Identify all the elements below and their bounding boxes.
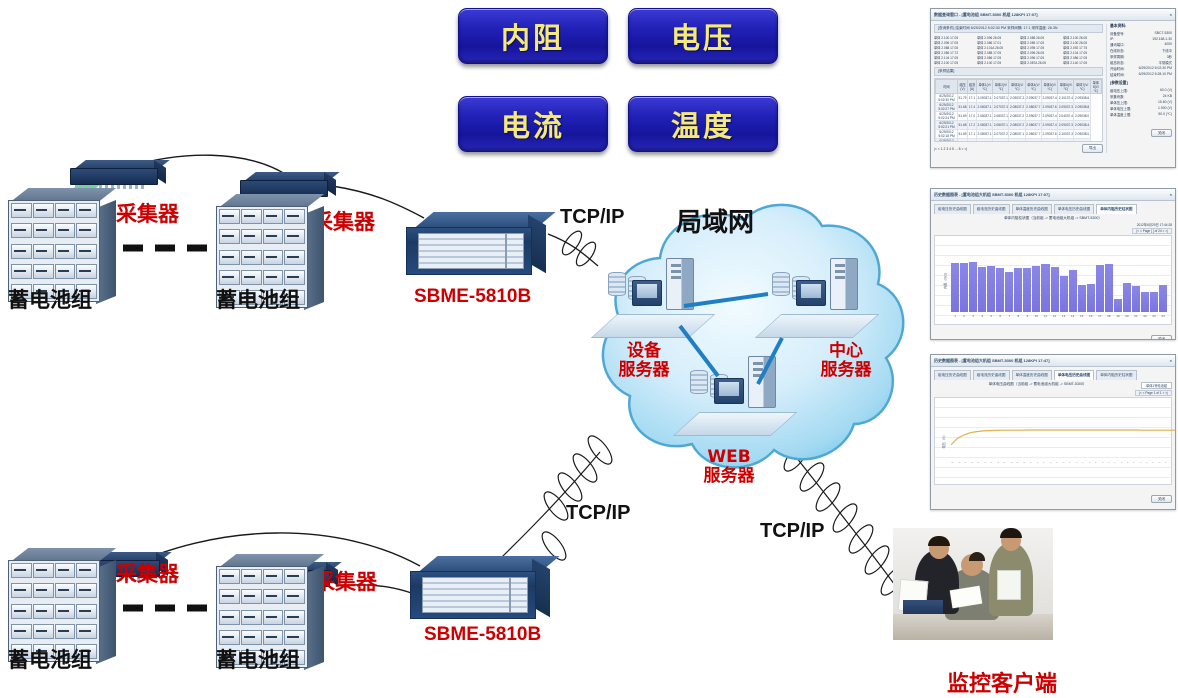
info-value: 6/29/2012 5:28:10 PM [1129,72,1172,77]
line-chart-window[interactable]: 历史数据图表 - [蓄电池组大机组 SBMT-5300 机组 128KPI 17… [930,354,1176,510]
bar-xtick: 16 [1087,314,1095,322]
photo-document [997,570,1021,600]
table-cell: 2.08037.7 [1025,121,1041,130]
table-cell: 2.09037.3 [1041,139,1057,143]
table-cell: 2.09037.4 [1041,121,1057,130]
table-header-cell: 单体1(V/℃) [976,80,992,94]
bar-chart-window[interactable]: 历史数据图表 - [蓄电池组大机组 SBMT-5300 机组 128KPI 17… [930,188,1176,340]
table-cell: 2.10037.3 [1058,130,1074,139]
info-row: 在线状态:下线中 [1110,48,1172,53]
alarm-row: 组电压上限:60.0 (V) [1110,88,1172,93]
table-row[interactable]: 6/29/2012 5:02:21 PM51.6817.22.08037.12.… [936,121,1102,130]
bar [1051,267,1059,312]
table-header-cell: 组压(V) [958,80,968,94]
chart-tab[interactable]: 单体电压历史曲线图 [1054,370,1094,380]
quick-value: 单体 2.100 17.05 [934,60,974,65]
bar [1141,292,1149,312]
line-chart-title: 单体电压曲线图（当前组 -> 蓄电池组大机组 -> SBMT-5300） [934,382,1141,387]
bar [1087,284,1095,312]
alarm-row: 单体压上限:15.60 (V) [1110,100,1172,105]
chart-tab[interactable]: 单体温度历史曲线图 [1012,204,1052,214]
table-cell: 2.09037.3 [1058,139,1074,143]
alarm-key: 单体电压上限: [1110,106,1131,111]
bar-xtick: 18 [1105,314,1113,322]
table-cell: 6/29/2012 5:02:24 PM [936,112,958,121]
bar [1041,264,1049,312]
line-xaxis: 09:0009:0509:1009:1509:2009:2509:3009:35… [951,462,1169,484]
info-key: 结束时间: [1110,72,1125,77]
table-cell: 17.0 [968,112,977,121]
table-cell: 2.08037.1 [993,121,1009,130]
bar-xtick: 23 [1150,314,1158,322]
bar-chart-title: 单体内阻柱状图（当前组 -> 蓄电池组大机组 -> SBMT-5300） [934,216,1172,221]
table-body: 6/29/2012 5:02:30 PM51.7917.12.09037.12.… [936,94,1102,143]
chart-tab[interactable]: 组电压历史曲线图 [934,370,971,380]
bar-xtick: 2 [960,314,968,322]
table-cell: 2.08037.2 [1009,112,1025,121]
bar [996,268,1004,312]
table-header-cell: 时间 [936,80,958,94]
export-button[interactable]: 导出 [1082,144,1103,153]
info-key: 通讯端口: [1110,42,1125,47]
collector-label-1: 采集器 [116,198,179,228]
alarm-key: 采集块数: [1110,94,1125,99]
table-cell: 17.1 [968,94,977,103]
info-key: 组态状态: [1110,60,1125,65]
bar-ylabel: 内阻（mΩ） [942,271,947,289]
bar [1159,285,1167,312]
bar [951,263,959,312]
chart-tabs: 组电压历史曲线图组电流历史曲线图单体温度历史曲线图单体电压历史曲线图单体内阻历史… [934,204,1172,214]
table-cell: 6/29/2012 5:02:27 PM [936,103,958,112]
line-pager[interactable]: |< < Page 1 of 1 > >| [1135,390,1172,396]
info-value: 6/29/2012 5:02:30 PM [1129,66,1172,71]
data-query-window[interactable]: 数据查询窗口 - [蓄电池组 SBMT-5300 机组 128KPI 17:07… [930,8,1176,168]
battery-label-4: 蓄电池组 [216,644,300,674]
alarm-row: 单体电压上限:1.900 (V) [1110,106,1172,111]
table-cell: 2.09037.7 [1025,94,1041,103]
line-ylabel: 电压（V） [941,434,946,449]
quick-value: 单体 2.087A 26.05 [1020,60,1060,65]
info-key: 采样周期: [1110,54,1125,59]
bar [1005,272,1013,312]
bar-xtick: 20 [1123,314,1131,322]
bar [1114,299,1122,312]
table-cell: 2.09037.6 [1041,103,1057,112]
info-value: 4000 [1129,42,1172,47]
table-cell: 6/29/2012 5:02:21 PM [936,121,958,130]
table-row[interactable]: 6/29/2012 5:02:27 PM51.6817.42.08037.12.… [936,103,1102,112]
table-cell: 2.09037.7 [1025,112,1041,121]
table-cell: 2.09037.3 [1058,103,1074,112]
table-cell: 2.07037.1 [993,94,1009,103]
chart-tabs: 组电压历史曲线图组电流历史曲线图单体温度历史曲线图单体电压历史曲线图单体内阻历史… [934,370,1172,380]
table-header-cell: 单体4(V/℃) [1025,80,1041,94]
close-icon[interactable]: × [1170,12,1172,17]
close-button[interactable]: 关闭 [1151,129,1172,137]
chart-tab[interactable]: 组电流历史曲线图 [973,370,1010,380]
bar-xtick: 4 [978,314,986,322]
quick-value: 单体 2.140 17.05 [1063,60,1103,65]
photo-hair [969,552,985,561]
table-cell: 51.69 [958,112,968,121]
window-title: 数据查询窗口 - [蓄电池组 SBMT-5300 机组 128KPI 17:07… [934,12,1038,18]
bar-xtick: 6 [996,314,1004,322]
alarm-key: 组电压上限: [1110,88,1128,93]
filter-bar: [查询条件] 结束时间 6/29/2012 5:02:30 PM 采样间隔: 1… [934,24,1103,33]
table-cell: 2.08037.1 [976,121,992,130]
bar [1096,265,1104,312]
table-cell: 2.08037.1 [976,130,992,139]
table-row[interactable]: 6/29/2012 5:02:15 PM51.7217.22.08037.12.… [936,139,1102,143]
chart-tab[interactable]: 单体内阻历史柱状图 [1096,370,1136,380]
table-header-cell: 单体7(V/℃) [1074,80,1090,94]
table-cell: 51.69 [958,130,968,139]
window-title: 历史数据图表 - [蓄电池组大机组 SBMT-5300 机组 128KPI 17… [934,358,1050,364]
line-path [951,430,1175,445]
info-key: IP: [1110,37,1114,41]
line-chart-plot: 电压（V） 09:0009:0509:1009:1509:2009:2509:3… [934,397,1172,485]
alarm-row: 单体温度上限:50.0 (℃) [1110,112,1172,117]
table-cell: 51.68 [958,121,968,130]
table-cell: 51.79 [958,94,968,103]
diagram-canvas: 内阻 电压 电流 温度 [0,0,1178,696]
collector-label-3: 采集器 [116,558,179,588]
info-key: 在线状态: [1110,48,1125,53]
table-header-cell: 单体5(V/℃) [1041,80,1057,94]
bar-xtick: 8 [1014,314,1022,322]
alarm-row: 采集块数:24 KB [1110,94,1172,99]
table-header-cell: 组流(A) [968,80,977,94]
bar-xtick: 3 [969,314,977,322]
bar-xtick: 9 [1023,314,1031,322]
table-cell: 2.09038.4 [1074,121,1090,130]
table-cell: 6/29/2012 5:02:15 PM [936,139,958,143]
info-row: IP:192.168.1.30 [1110,37,1172,41]
table-cell: 2.08037.1 [976,112,992,121]
info-key: 设备型号: [1110,31,1125,36]
table-header-cell: 单体3(V/℃) [1009,80,1025,94]
table-cell: 2.08037.1 [976,139,992,143]
close-button[interactable]: 关闭 [1151,335,1172,340]
table-cell: 17.4 [968,103,977,112]
collector-switch-1[interactable] [70,160,166,186]
alarm-value: 50.0 (℃) [1135,112,1172,117]
window-titlebar: 历史数据图表 - [蓄电池组大机组 SBMT-5300 机组 128KPI 17… [931,355,1175,367]
table-cell: 17.2 [968,121,977,130]
bar [1032,266,1040,312]
bar-xtick: 1 [951,314,959,322]
battery-label-2: 蓄电池组 [216,284,300,314]
table-cell: 6/29/2012 5:02:30 PM [936,94,958,103]
bar-timestamp: 2012年6月29日 17:44:28 [1137,222,1172,227]
table-cell: 2.08037.2 [1009,103,1025,112]
sbme-slots [418,233,506,269]
info-value: 平常模式 [1129,60,1172,65]
bar [1078,285,1086,312]
bar [969,262,977,312]
table-cell: 2.09038.8 [1074,103,1090,112]
window-titlebar: 历史数据图表 - [蓄电池组大机组 SBMT-5300 机组 128KPI 17… [931,189,1175,201]
bar-xtick: 7 [1005,314,1013,322]
table-cell: 2.08037.1 [993,112,1009,121]
alarm-value: 1.900 (V) [1135,106,1172,111]
table-cell: 2.04037.4 [1058,112,1074,121]
info-key: 开始时间: [1110,66,1125,71]
table-header-row: 时间组压(V)组流(A)单体1(V/℃)单体2(V/℃)单体3(V/℃)单体4(… [936,80,1102,94]
table-cell: 2.09038.8 [1074,139,1090,143]
bar-xtick: 12 [1051,314,1059,322]
sbme-device-top[interactable] [406,212,546,274]
result-bar: [采样结果] [934,67,1103,76]
bar-xtick: 11 [1041,314,1049,322]
table-cell: 2.09037.3 [1058,121,1074,130]
window-title: 历史数据图表 - [蓄电池组大机组 SBMT-5300 机组 128KPI 17… [934,192,1050,198]
bar-series [951,250,1167,312]
table-cell: 2.07037.2 [993,139,1009,143]
battery-rack-1 [8,200,116,296]
sbme-slots-right [506,233,524,269]
alarm-rows: 组电压上限:60.0 (V)采集块数:24 KB单体压上限:15.60 (V)单… [1110,88,1172,117]
table-header-cell: 单体6(V/℃) [1058,80,1074,94]
sbme-label-top: SBME-5810B [414,286,531,308]
bar-xtick: 22 [1141,314,1149,322]
bar [1014,268,1022,312]
data-table: 时间组压(V)组流(A)单体1(V/℃)单体2(V/℃)单体3(V/℃)单体4(… [935,79,1102,142]
bar-xtick: 21 [1132,314,1140,322]
table-cell: 2.07037.2 [993,130,1009,139]
monitoring-client-photo [893,528,1053,640]
bar-xtick: 10 [1032,314,1040,322]
table-cell: 2.09037.1 [976,94,992,103]
table-cell: 2.09037.6 [1041,130,1057,139]
chart-tab[interactable]: 组电压历史曲线图 [934,204,971,214]
bar-xtick: 14 [1069,314,1077,322]
bar [1069,270,1077,312]
sbme-slots-right [510,577,528,613]
bar [987,266,995,312]
bar [1123,283,1131,312]
table-header-cell: 单体8(V/℃) [1090,80,1101,94]
table-cell: 2.09338.6 [1074,94,1090,103]
window-body: 组电压历史曲线图组电流历史曲线图单体温度历史曲线图单体电压历史曲线图单体内阻历史… [931,201,1175,340]
switch-face [70,168,158,185]
photo-hair [928,536,950,546]
info-row: 设备型号:SBCT-5300 [1110,31,1172,36]
table-cell: 2.09037.4 [1041,112,1057,121]
bar [1150,292,1158,312]
window-titlebar: 数据查询窗口 - [蓄电池组 SBMT-5300 机组 128KPI 17:07… [931,9,1175,21]
lan-cloud: 局域网 设备 服务器 中心 服务器 [568,196,916,496]
table-row[interactable]: 6/29/2012 5:02:24 PM51.6917.02.08037.12.… [936,112,1102,121]
quick-value-row: 单体 2.100 17.05单体 2.100 17.05单体 2.087A 26… [934,60,1103,65]
client-label: 监控客户端 [947,666,1057,698]
bar [1023,268,1031,312]
chart-tab[interactable]: 组电流历史曲线图 [973,204,1010,214]
table-cell: 2.08037.7 [1025,103,1041,112]
bar [960,263,968,312]
photo-laptop [903,600,943,614]
sbme-label-bottom: SBME-5810B [424,624,541,646]
alarm-panel-title: [参数设置] [1110,81,1172,86]
chart-tab[interactable]: 单体电压历史曲线图 [1054,204,1094,214]
close-button[interactable]: 关闭 [1151,495,1172,503]
alarm-key: 单体压上限: [1110,100,1128,105]
bar [1105,264,1113,312]
series-selector[interactable]: 单体1号电池组 [1141,382,1172,389]
alarm-key: 单体温度上限: [1110,112,1131,117]
table-cell: 2.10137.4 [1058,94,1074,103]
info-row: 组态状态:平常模式 [1110,60,1172,65]
tcpip-label-right: TCP/IP [760,520,824,543]
window-body: 组电压历史曲线图组电流历史曲线图单体温度历史曲线图单体电压历史曲线图单体内阻历史… [931,367,1175,508]
bar [1060,276,1068,312]
table-cell: 2.08037.1 [976,103,992,112]
alarm-value: 60.0 (V) [1132,88,1172,93]
battery-rack-3 [8,560,116,656]
bar-xtick: 15 [1078,314,1086,322]
table-cell: 2.07037.3 [993,103,1009,112]
window-body: [查询条件] 结束时间 6/29/2012 5:02:30 PM 采样间隔: 1… [931,21,1175,156]
info-rows: 设备型号:SBCT-5300IP:192.168.1.30通讯端口:4000在线… [1110,31,1172,77]
info-row: 采样周期:3秒 [1110,54,1172,59]
table-cell: 2.09037.4 [1041,94,1057,103]
bar-xtick: 17 [1096,314,1104,322]
table-cell: 2.08037.7 [1025,139,1041,143]
table-cell: 2.08037.1 [1009,130,1025,139]
table-cell: 2.08037.2 [1009,121,1025,130]
table-cell: 2.09038.0 [1074,130,1090,139]
pager[interactable]: |< < 1 2 3 4 5 ... 8 > >| [934,147,967,151]
bar-xtick: 5 [987,314,995,322]
quick-values-grid: 单体 2.100 17.05单体 2.096 26.05单体 2.088 26.… [934,35,1103,65]
table-header-cell: 单体2(V/℃) [993,80,1009,94]
table-cell: 6/29/2012 5:02:18 PM [936,130,958,139]
table-cell: 2.08037.2 [1009,139,1025,143]
table-cell: 2.09038.0 [1074,112,1090,121]
battery-label-1: 蓄电池组 [8,284,92,314]
info-value: 192.168.1.30 [1118,37,1172,41]
info-row: 结束时间:6/29/2012 5:28:10 PM [1110,72,1172,77]
table-cell: 17.1 [968,130,977,139]
info-value: 下线中 [1129,48,1172,53]
info-row: 通讯端口:4000 [1110,42,1172,47]
table-cell: 2.09037.2 [1009,94,1025,103]
chart-tab[interactable]: 单体温度历史曲线图 [1012,370,1052,380]
data-table-scroll[interactable]: 时间组压(V)组流(A)单体1(V/℃)单体2(V/℃)单体3(V/℃)单体4(… [934,78,1103,142]
table-cell: 51.68 [958,103,968,112]
info-value: SBCT-5300 [1129,31,1172,36]
battery-label-3: 蓄电池组 [8,644,92,674]
table-row[interactable]: 6/29/2012 5:02:18 PM51.6917.12.08037.12.… [936,130,1102,139]
bar [1132,286,1140,312]
line-series [951,404,1175,466]
bar-xtick: 13 [1060,314,1068,322]
close-icon[interactable]: × [1170,192,1172,197]
alarm-value: 15.60 (V) [1132,100,1172,105]
bar-xtick: 19 [1114,314,1122,322]
info-value: 3秒 [1129,54,1172,59]
table-cell: 51.72 [958,139,968,143]
chart-tab[interactable]: 单体内阻历史柱状图 [1096,204,1136,214]
sbme-device-bottom[interactable] [410,556,550,618]
table-cell: 2.08037.7 [1025,130,1041,139]
bar-chart-plot: 内阻（mΩ） 123456789101112131415161718192021… [934,235,1172,325]
close-icon[interactable]: × [1170,358,1172,363]
info-panel-title: 基本资料: [1110,24,1172,29]
bar-pager[interactable]: |< < Page [ ] of 24 > >| [1132,228,1172,234]
alarm-value: 24 KB [1129,94,1172,99]
info-row: 开始时间:6/29/2012 5:02:30 PM [1110,66,1172,71]
photo-hair [1000,528,1022,538]
bar [978,267,986,312]
info-sidebar: 基本资料: 设备型号:SBCT-5300IP:192.168.1.30通讯端口:… [1106,24,1172,153]
table-cell: 17.2 [968,139,977,143]
table-row[interactable]: 6/29/2012 5:02:30 PM51.7917.12.09037.12.… [936,94,1102,103]
bar-xaxis: 123456789101112131415161718192021222324 [951,314,1167,322]
sbme-slots [422,577,510,613]
bar-xtick: 24 [1159,314,1167,322]
tcpip-label-left: TCP/IP [566,502,630,525]
quick-value: 单体 2.100 17.05 [977,60,1017,65]
